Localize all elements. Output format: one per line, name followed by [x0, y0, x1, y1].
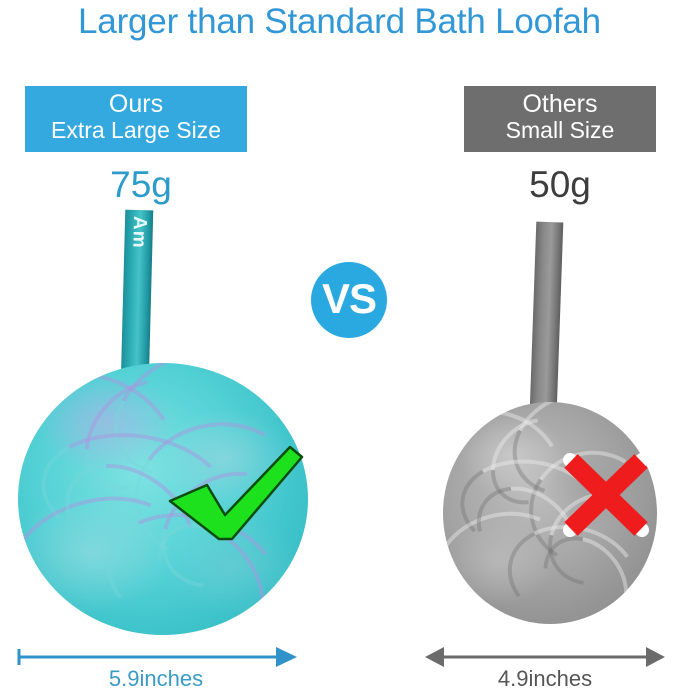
plate-ours-line1: Ours [25, 90, 247, 118]
vs-badge-label: VS [322, 278, 376, 323]
dimension-label-ours: 5.9inches [14, 666, 298, 692]
product-comparison-image: Larger than Standard Bath Loofah Ours Ex… [0, 0, 679, 694]
dimension-label-others: 4.9inches [424, 666, 666, 692]
loofah-strap-ours: Am [121, 210, 154, 386]
label-plate-ours: Ours Extra Large Size [25, 86, 247, 152]
vs-badge: VS [311, 262, 387, 338]
strap-brand-text-ours: Am [121, 210, 154, 386]
label-plate-others: Others Small Size [464, 86, 656, 152]
weight-label-ours: 75g [76, 164, 206, 206]
loofah-strap-others [530, 222, 564, 413]
check-icon [162, 443, 304, 543]
plate-others-line2: Small Size [464, 118, 656, 144]
x-icon [554, 446, 658, 544]
plate-others-line1: Others [464, 90, 656, 118]
plate-ours-line2: Extra Large Size [25, 118, 247, 144]
page-title: Larger than Standard Bath Loofah [0, 2, 679, 42]
weight-label-others: 50g [495, 164, 625, 206]
